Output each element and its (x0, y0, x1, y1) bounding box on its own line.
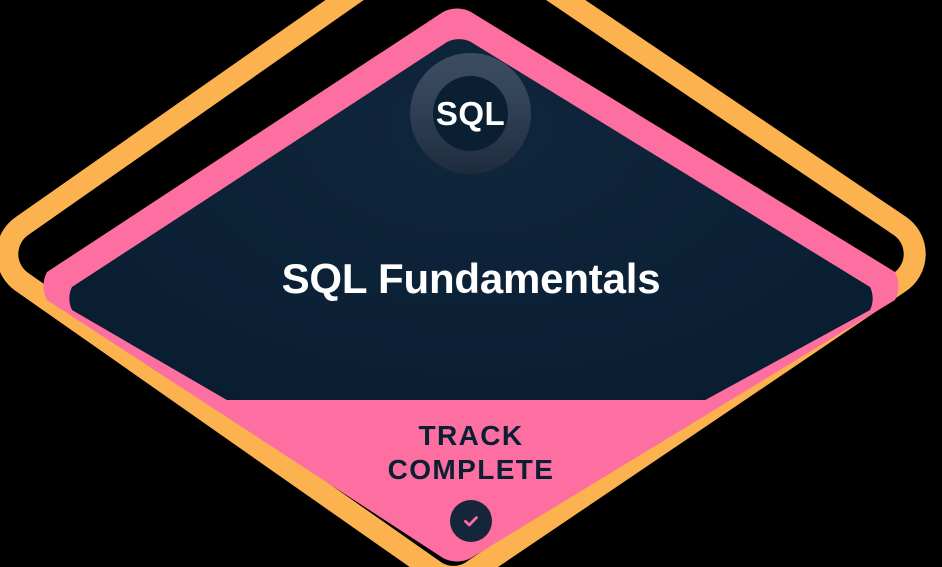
check-mark-icon (460, 510, 482, 532)
completion-check-badge (450, 500, 492, 542)
sql-emblem: SQL (410, 53, 531, 174)
track-completion-badge: SQL SQL Fundamentals TRACK COMPLETE (0, 0, 942, 567)
status-line-one: TRACK (0, 419, 942, 453)
status-line-two: COMPLETE (0, 453, 942, 487)
track-status-block: TRACK COMPLETE (0, 419, 942, 542)
sql-emblem-label: SQL (410, 53, 531, 174)
track-title: SQL Fundamentals (0, 255, 942, 303)
